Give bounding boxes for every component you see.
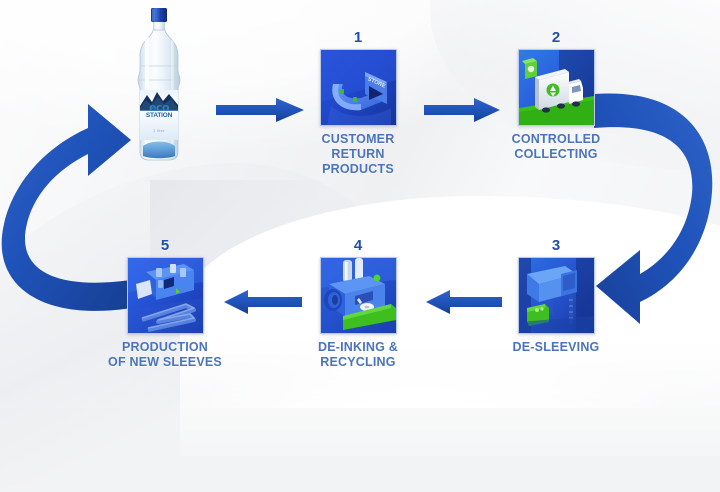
step-customer-return-products[interactable]: 1 <box>299 30 417 177</box>
step-de-inking-recycling[interactable]: 4 <box>299 238 417 370</box>
step-label: DE-SLEEVING <box>497 340 615 355</box>
recycling-truck-icon <box>518 49 595 126</box>
arrow-step1-to-step2 <box>422 97 502 123</box>
step-label: CONTROLLED COLLECTING <box>497 132 615 162</box>
step-label: CUSTOMER RETURN PRODUCTS <box>299 132 417 177</box>
step-number: 1 <box>299 30 417 45</box>
step-number: 5 <box>106 238 224 253</box>
step-de-sleeving[interactable]: 3 <box>497 238 615 355</box>
sleeve-production-line-icon <box>127 257 204 334</box>
step-label: DE-INKING & RECYCLING <box>299 340 417 370</box>
arrow-bottle-to-step1 <box>214 97 306 123</box>
diagram-canvas: eco STATION 1 liter <box>0 0 720 408</box>
step-number: 2 <box>497 30 615 45</box>
step-number: 3 <box>497 238 615 253</box>
bottle-volume-label: 1 liter <box>131 128 187 133</box>
product-bottle: eco STATION 1 liter <box>131 6 187 164</box>
de-inking-machine-icon <box>320 257 397 334</box>
step-number: 4 <box>299 238 417 253</box>
store-return-counter-icon: STORE <box>320 49 397 126</box>
arrow-step3-to-step4 <box>424 289 504 315</box>
step-production-of-new-sleeves[interactable]: 5 <box>106 238 224 370</box>
step-controlled-collecting[interactable]: 2 <box>497 30 615 162</box>
arrow-step4-to-step5 <box>222 289 304 315</box>
bottle-brand-sub-label: STATION <box>131 112 187 119</box>
step-label: PRODUCTION OF NEW SLEEVES <box>106 340 224 370</box>
de-sleeving-machine-icon <box>518 257 595 334</box>
